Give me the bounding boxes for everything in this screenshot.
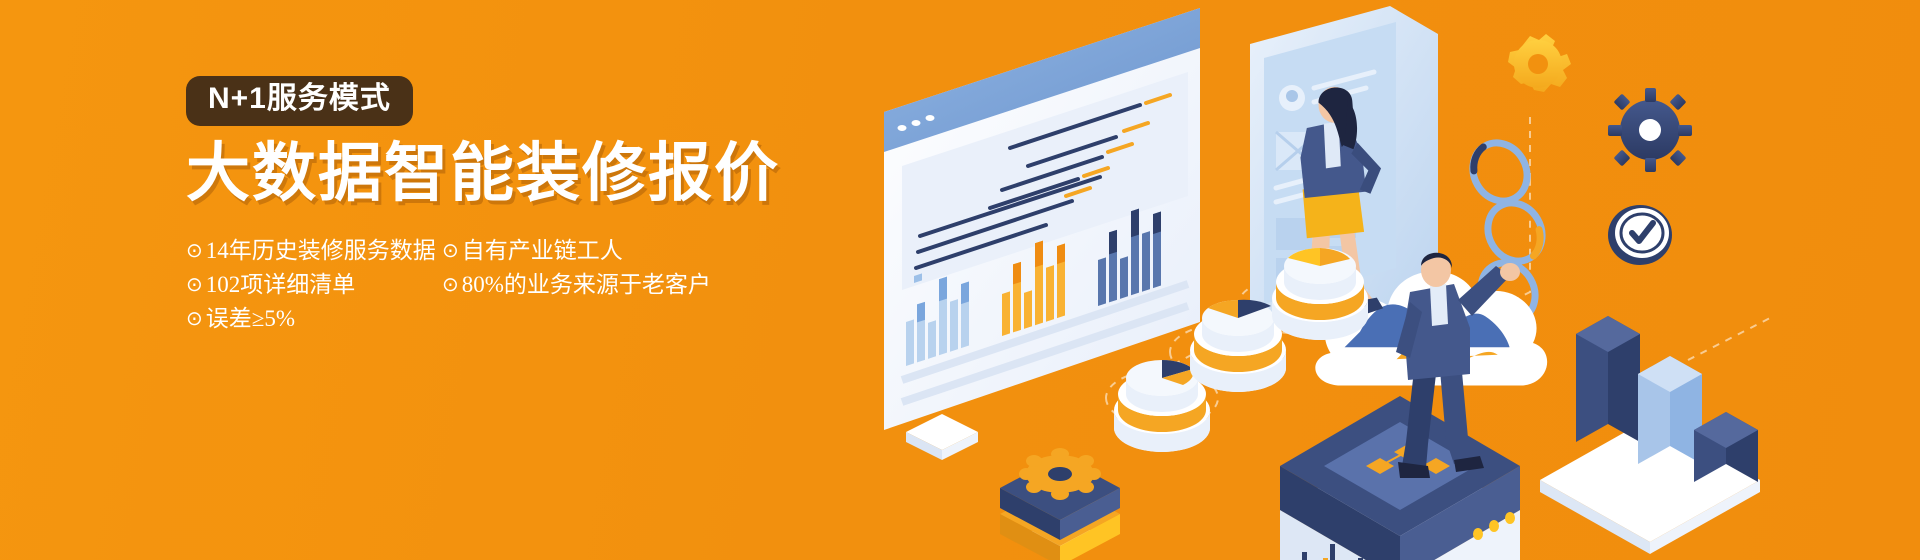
pie-stack-3 bbox=[1272, 248, 1368, 340]
list-item-label: 14年历史装修服务数据 bbox=[206, 239, 436, 262]
service-model-badge: N+1服务模式 bbox=[186, 76, 413, 126]
white-tile-1 bbox=[906, 414, 978, 460]
hero-illustration bbox=[840, 0, 1920, 560]
check-badge-icon bbox=[1608, 205, 1672, 265]
list-item-label: 102项详细清单 bbox=[206, 273, 356, 296]
bullet-marker-icon: ⊙ bbox=[186, 309, 203, 329]
ring-icon-2 bbox=[1477, 193, 1552, 271]
pie-stack-2 bbox=[1190, 300, 1286, 392]
bullet-marker-icon: ⊙ bbox=[442, 275, 459, 295]
gear-icon bbox=[1019, 448, 1101, 500]
list-item-label: 80%的业务来源于老客户 bbox=[462, 273, 711, 296]
banner-copy: N+1服务模式 大数据智能装修报价 ⊙ 14年历史装修服务数据 ⊙ 102项详细… bbox=[186, 76, 826, 336]
feature-bullet-list: ⊙ 14年历史装修服务数据 ⊙ 102项详细清单 ⊙ 误差≥5% ⊙ 自有产业链… bbox=[186, 234, 826, 336]
bullet-marker-icon: ⊙ bbox=[186, 241, 203, 261]
list-item-label: 自有产业链工人 bbox=[462, 239, 623, 262]
list-item: ⊙ 自有产业链工人 bbox=[442, 234, 826, 268]
promo-banner: N+1服务模式 大数据智能装修报价 ⊙ 14年历史装修服务数据 ⊙ 102项详细… bbox=[0, 0, 1920, 560]
page-title: 大数据智能装修报价 bbox=[186, 138, 826, 208]
list-item: ⊙ 14年历史装修服务数据 bbox=[186, 234, 442, 268]
bar-chart-columns-right bbox=[1540, 316, 1760, 554]
list-item: ⊙ 80%的业务来源于老客户 bbox=[442, 268, 826, 302]
list-item: ⊙ 102项详细清单 bbox=[186, 268, 442, 302]
gear-yellow-icon bbox=[1508, 34, 1571, 92]
list-item-label: 误差≥5% bbox=[206, 307, 295, 330]
bullet-marker-icon: ⊙ bbox=[442, 241, 459, 261]
bullet-marker-icon: ⊙ bbox=[186, 275, 203, 295]
gear-navy-icon bbox=[1608, 88, 1692, 172]
gear-platform bbox=[1000, 448, 1120, 560]
ring-icon-1 bbox=[1462, 133, 1537, 211]
list-item: ⊙ 误差≥5% bbox=[186, 302, 442, 336]
